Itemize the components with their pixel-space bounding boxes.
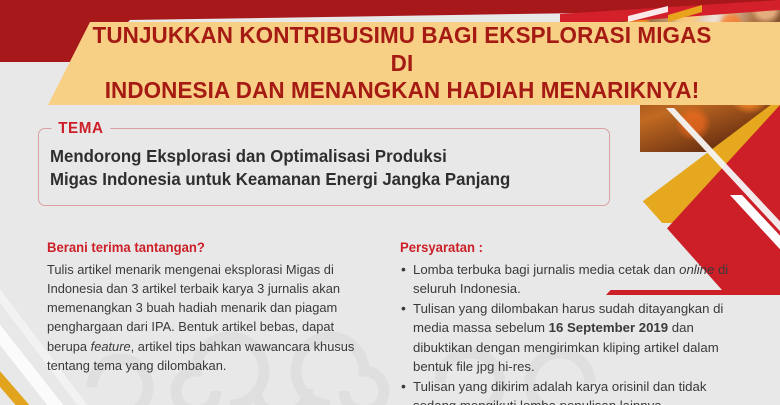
left-column-heading: Berani terima tantangan? bbox=[47, 240, 369, 255]
tema-text: Mendorong Eksplorasi dan Optimalisasi Pr… bbox=[50, 145, 580, 192]
poster-canvas: TUNJUKKAN KONTRIBUSIMU BAGI EKSPLORASI M… bbox=[0, 0, 780, 405]
list-item: Lomba terbuka bagi jurnalis media cetak … bbox=[400, 260, 740, 298]
req-1-bold: 16 September 2019 bbox=[549, 320, 669, 335]
req-0-pre: Lomba terbuka bagi jurnalis media cetak … bbox=[413, 262, 679, 277]
headline-banner: TUNJUKKAN KONTRIBUSIMU BAGI EKSPLORASI M… bbox=[0, 22, 780, 105]
tema-line-2: Migas Indonesia untuk Keamanan Energi Ja… bbox=[50, 168, 580, 191]
right-column-heading: Persyaratan : bbox=[400, 240, 730, 255]
list-item: Tulisan yang dilombakan harus sudah dita… bbox=[400, 299, 740, 376]
banner-title-line-2: INDONESIA DAN MENANGKAN HADIAH MENARIKNY… bbox=[87, 77, 717, 105]
requirements-list: Lomba terbuka bagi jurnalis media cetak … bbox=[400, 260, 740, 405]
req-0-italic: online bbox=[679, 262, 714, 277]
left-column-paragraph: Tulis artikel menarik mengenai eksploras… bbox=[47, 260, 371, 375]
tema-label: TEMA bbox=[52, 120, 111, 138]
list-item: Tulisan yang dikirim adalah karya orisin… bbox=[400, 377, 740, 405]
banner-title: TUNJUKKAN KONTRIBUSIMU BAGI EKSPLORASI M… bbox=[87, 22, 717, 105]
left-column: Berani terima tantangan? Tulis artikel m… bbox=[47, 240, 379, 375]
left-paragraph-italic: feature bbox=[91, 339, 131, 354]
banner-title-line-1: TUNJUKKAN KONTRIBUSIMU BAGI EKSPLORASI M… bbox=[87, 22, 717, 77]
req-2-pre: Tulisan yang dikirim adalah karya orisin… bbox=[413, 379, 706, 405]
tema-line-1: Mendorong Eksplorasi dan Optimalisasi Pr… bbox=[50, 145, 580, 168]
right-column: Persyaratan : Lomba terbuka bagi jurnali… bbox=[400, 240, 740, 405]
